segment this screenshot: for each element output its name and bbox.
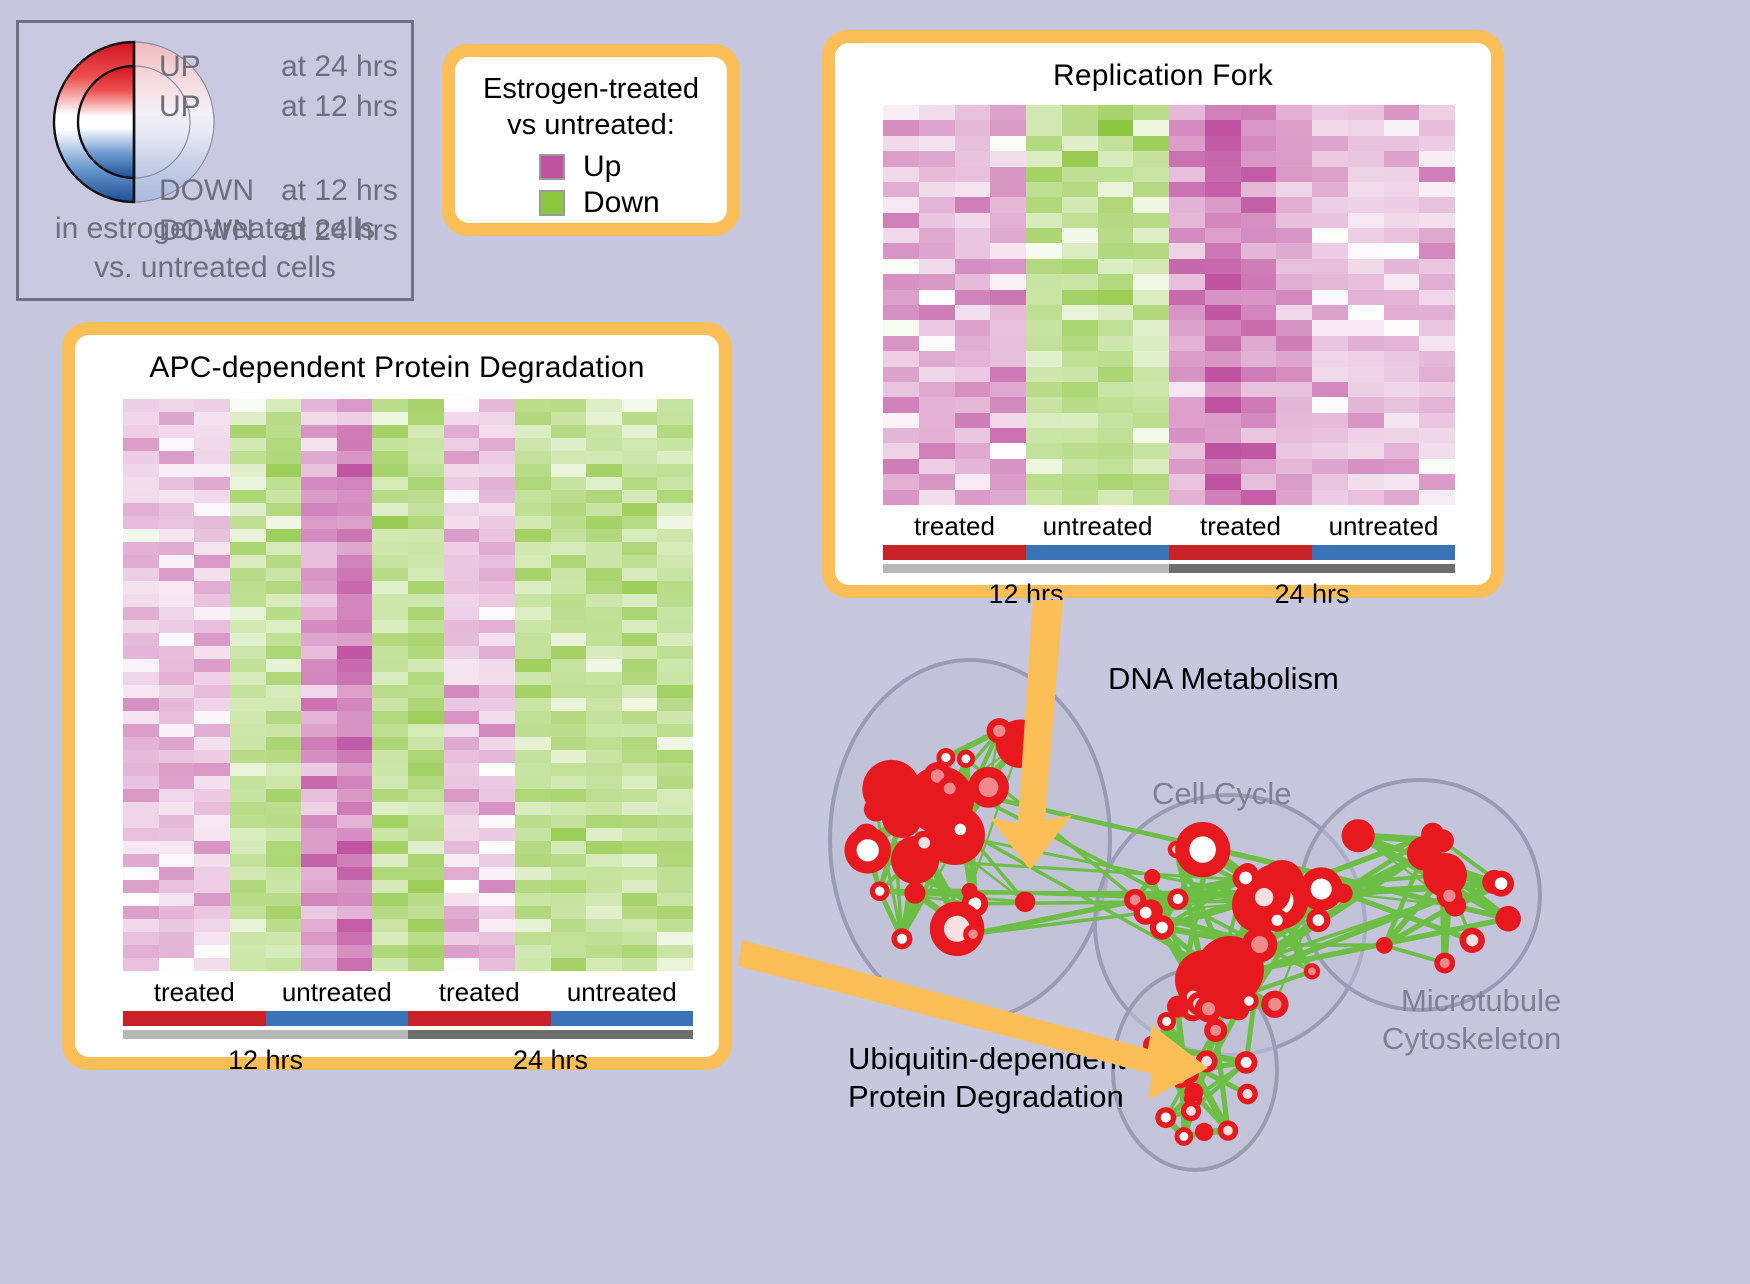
heatmap-cell xyxy=(123,646,159,659)
heatmap-cell xyxy=(586,945,622,958)
heatmap-cell xyxy=(955,182,991,197)
heatmap-cell xyxy=(657,490,693,503)
heatmap-cell xyxy=(586,802,622,815)
heatmap-cell xyxy=(586,672,622,685)
heatmap-cell xyxy=(266,399,302,412)
heatmap-cell xyxy=(657,659,693,672)
heatmap-cell xyxy=(622,438,658,451)
treatment-bar-untreated xyxy=(551,1011,694,1026)
heatmap-cell xyxy=(266,789,302,802)
heatmap-cell xyxy=(266,425,302,438)
heatmap-cell xyxy=(372,763,408,776)
heatmap-cell xyxy=(1241,367,1277,382)
heatmap-cell xyxy=(1133,382,1169,397)
heatmap-cell xyxy=(372,412,408,425)
heatmap-cell xyxy=(657,568,693,581)
heatmap-cell xyxy=(1026,151,1062,166)
heatmap-cell xyxy=(1312,305,1348,320)
heatmap-cell xyxy=(586,724,622,737)
heatmap-cell xyxy=(622,685,658,698)
heatmap-cell xyxy=(408,581,444,594)
heatmap-cell xyxy=(1276,197,1312,212)
heatmap-cell xyxy=(444,607,480,620)
network-node[interactable] xyxy=(1237,1084,1258,1105)
heatmap-cell xyxy=(622,893,658,906)
heatmap-cell xyxy=(586,620,622,633)
legend-item-up: Up xyxy=(539,149,727,185)
heatmap-cell xyxy=(159,698,195,711)
heatmap-cell xyxy=(1062,367,1098,382)
heatmap-cell xyxy=(1384,274,1420,289)
heatmap-cell xyxy=(337,854,373,867)
legend-caption-line1: in estrogen-treated cells xyxy=(19,209,411,248)
heatmap-cell xyxy=(1241,167,1277,182)
heatmap-cell xyxy=(622,750,658,763)
heatmap-cell xyxy=(1133,259,1169,274)
heatmap-cell xyxy=(1276,182,1312,197)
heatmap-cell xyxy=(1348,413,1384,428)
heatmap-cell xyxy=(408,828,444,841)
heatmap-cell xyxy=(1348,290,1384,305)
network-node[interactable] xyxy=(1430,829,1453,852)
heatmap-cell xyxy=(194,685,230,698)
heatmap-cell xyxy=(230,685,266,698)
network-node[interactable] xyxy=(987,718,1013,744)
heatmap-cell xyxy=(159,711,195,724)
network-node[interactable] xyxy=(1015,892,1035,912)
network-node[interactable] xyxy=(968,767,1009,808)
heatmap-cell xyxy=(657,477,693,490)
heatmap-cell xyxy=(230,763,266,776)
treatment-bar-treated xyxy=(123,1011,266,1026)
heatmap-cell xyxy=(266,802,302,815)
time-bar-12hrs xyxy=(123,1030,408,1039)
network-node[interactable] xyxy=(1195,995,1222,1022)
heatmap-cell xyxy=(622,828,658,841)
heatmap-cell xyxy=(1419,351,1455,366)
heatmap-cell xyxy=(1312,443,1348,458)
network-node[interactable] xyxy=(1182,961,1202,981)
heatmap-cell xyxy=(337,867,373,880)
heatmap-cell xyxy=(444,841,480,854)
heatmap-cell xyxy=(194,516,230,529)
heatmap-cell xyxy=(955,443,991,458)
heatmap-cell xyxy=(657,893,693,906)
heatmap-cell xyxy=(657,932,693,945)
heatmap-cell xyxy=(1312,213,1348,228)
network-node[interactable] xyxy=(1437,883,1463,909)
heatmap-cell xyxy=(301,750,337,763)
network-node[interactable] xyxy=(1195,1123,1213,1141)
heatmap-cell xyxy=(551,750,587,763)
heatmap-cell xyxy=(194,555,230,568)
heatmap-cell xyxy=(551,841,587,854)
heatmap-cell xyxy=(266,750,302,763)
heatmap-cell xyxy=(1419,197,1455,212)
heatmap-cell xyxy=(586,685,622,698)
heatmap-cell xyxy=(1384,459,1420,474)
heatmap-cell xyxy=(1026,228,1062,243)
network-node[interactable] xyxy=(963,924,983,944)
heatmap-cell xyxy=(1276,428,1312,443)
heatmap-cell xyxy=(1133,367,1169,382)
network-node[interactable] xyxy=(1376,937,1393,954)
heatmap-cell xyxy=(586,711,622,724)
heatmap-cell xyxy=(408,685,444,698)
heatmap-cell xyxy=(586,477,622,490)
heatmap-cell xyxy=(515,633,551,646)
heatmap-cell xyxy=(123,737,159,750)
network-node[interactable] xyxy=(1175,822,1230,877)
heatmap-cell xyxy=(194,646,230,659)
heatmap-cell xyxy=(444,620,480,633)
heatmap-cell xyxy=(479,633,515,646)
heatmap-cell xyxy=(515,399,551,412)
time-color-bars xyxy=(123,1030,693,1039)
legend-direction: UP xyxy=(159,47,281,87)
heatmap-cell xyxy=(1276,474,1312,489)
heatmap-cell xyxy=(1205,413,1241,428)
heatmap-cell xyxy=(372,893,408,906)
network-node[interactable] xyxy=(1184,1083,1203,1102)
heatmap-cell xyxy=(1419,397,1455,412)
heatmap-cell xyxy=(444,425,480,438)
heatmap-cell xyxy=(1062,336,1098,351)
heatmap-cell xyxy=(123,958,159,971)
heatmap-cell xyxy=(1384,197,1420,212)
heatmap-cell xyxy=(159,516,195,529)
network-node[interactable] xyxy=(1434,953,1455,974)
heatmap-cell xyxy=(515,815,551,828)
network-node[interactable] xyxy=(1333,884,1352,903)
network-node[interactable] xyxy=(1242,927,1277,962)
heatmap-cell xyxy=(955,151,991,166)
heatmap-cell xyxy=(1062,413,1098,428)
heatmap-cell xyxy=(159,659,195,672)
network-node[interactable] xyxy=(1495,906,1521,932)
heatmap-cell xyxy=(622,867,658,880)
heatmap-cell xyxy=(444,451,480,464)
heatmap-cell xyxy=(1241,182,1277,197)
heatmap-cell xyxy=(301,802,337,815)
heatmap-cell xyxy=(1419,136,1455,151)
heatmap-cell xyxy=(1098,136,1134,151)
heatmap-cell xyxy=(372,451,408,464)
heatmap-cell xyxy=(883,213,919,228)
heatmap-cell xyxy=(1169,274,1205,289)
heatmap-cell xyxy=(515,503,551,516)
heatmap-cell xyxy=(515,555,551,568)
heatmap-cell xyxy=(586,789,622,802)
heatmap-cell xyxy=(1169,428,1205,443)
heatmap-cell xyxy=(266,880,302,893)
network-node[interactable] xyxy=(1460,928,1485,953)
heatmap-cell xyxy=(444,932,480,945)
heatmap-grid xyxy=(123,399,693,971)
heatmap-cell xyxy=(159,503,195,516)
heatmap-cell xyxy=(1026,213,1062,228)
network-node[interactable] xyxy=(1217,952,1233,968)
heatmap-cell xyxy=(123,711,159,724)
heatmap-cell xyxy=(990,167,1026,182)
network-node[interactable] xyxy=(870,881,890,901)
heatmap-cell xyxy=(622,503,658,516)
heatmap-cell xyxy=(1241,243,1277,258)
heatmap-cell xyxy=(479,802,515,815)
heatmap-cell xyxy=(372,841,408,854)
network-node[interactable] xyxy=(1306,908,1330,932)
heatmap-legend-items: Up Down xyxy=(455,149,727,221)
network-node[interactable] xyxy=(1204,1019,1227,1042)
heatmap-cell xyxy=(123,685,159,698)
network-node[interactable] xyxy=(1235,1051,1258,1074)
heatmap-cell xyxy=(1205,290,1241,305)
heatmap-cell xyxy=(479,412,515,425)
network-node[interactable] xyxy=(1167,996,1189,1018)
heatmap-cell xyxy=(919,105,955,120)
heatmap-cell xyxy=(586,490,622,503)
heatmap-cell xyxy=(194,880,230,893)
heatmap-cell xyxy=(123,828,159,841)
heatmap-cell xyxy=(1419,167,1455,182)
heatmap-cell xyxy=(586,633,622,646)
network-node[interactable] xyxy=(937,776,961,800)
network-node[interactable] xyxy=(1171,1070,1189,1088)
heatmap-cell xyxy=(123,893,159,906)
heatmap-cell xyxy=(159,607,195,620)
heatmap-cell xyxy=(1133,320,1169,335)
heatmap-cell xyxy=(123,451,159,464)
heatmap-cell xyxy=(515,516,551,529)
heatmap-cell xyxy=(622,815,658,828)
heatmap-cell xyxy=(1348,367,1384,382)
network-node[interactable] xyxy=(936,748,955,767)
heatmap-cell xyxy=(1026,274,1062,289)
heatmap-cell xyxy=(337,932,373,945)
network-node[interactable] xyxy=(862,760,920,818)
network-node[interactable] xyxy=(1155,1107,1176,1128)
heatmap-cell xyxy=(230,633,266,646)
heatmap-cell xyxy=(515,607,551,620)
heatmap-cell xyxy=(444,555,480,568)
heatmap-cell xyxy=(479,490,515,503)
network-node[interactable] xyxy=(891,928,912,949)
network-node[interactable] xyxy=(912,831,936,855)
legend-title-line1: Estrogen-treated xyxy=(455,71,727,107)
heatmap-cell xyxy=(1348,228,1384,243)
heatmap-cell xyxy=(622,516,658,529)
heatmap-cell xyxy=(159,867,195,880)
heatmap-cell xyxy=(1276,367,1312,382)
network-node[interactable] xyxy=(962,883,978,899)
heatmap-cell xyxy=(1241,397,1277,412)
heatmap-cell xyxy=(159,802,195,815)
heatmap-cell xyxy=(1133,151,1169,166)
network-node[interactable] xyxy=(957,750,975,768)
heatmap-cell xyxy=(194,841,230,854)
network-node[interactable] xyxy=(1175,1127,1194,1146)
heatmap-cell xyxy=(586,594,622,607)
heatmap-cell xyxy=(883,151,919,166)
heatmap-cell xyxy=(1276,351,1312,366)
heatmap-cell xyxy=(159,464,195,477)
heatmap-cell xyxy=(194,854,230,867)
heatmap-cell xyxy=(1312,259,1348,274)
heatmap-cell xyxy=(1419,443,1455,458)
heatmap-cell xyxy=(990,336,1026,351)
network-node[interactable] xyxy=(1233,865,1259,891)
heatmap-cell xyxy=(883,428,919,443)
heatmap-cell xyxy=(301,815,337,828)
heatmap-cell xyxy=(919,213,955,228)
heatmap-cell xyxy=(622,399,658,412)
heatmap-cell xyxy=(586,763,622,776)
heatmap-cell xyxy=(551,490,587,503)
heatmap-cell xyxy=(1312,290,1348,305)
heatmap-cell xyxy=(301,841,337,854)
network-node[interactable] xyxy=(904,882,925,903)
heatmap-cell xyxy=(1169,290,1205,305)
heatmap-cell xyxy=(515,646,551,659)
heatmap-cell xyxy=(586,568,622,581)
heatmap-cell xyxy=(955,290,991,305)
network-node[interactable] xyxy=(1488,871,1514,897)
heatmap-cell xyxy=(123,555,159,568)
heatmap-cell xyxy=(551,867,587,880)
heatmap-cell xyxy=(194,789,230,802)
heatmap-cell xyxy=(230,932,266,945)
heatmap-cell xyxy=(919,443,955,458)
network-node[interactable] xyxy=(1195,1050,1217,1072)
heatmap-cell xyxy=(479,698,515,711)
heatmap-cell xyxy=(883,490,919,505)
heatmap-cell xyxy=(1348,351,1384,366)
heatmap-cell xyxy=(230,724,266,737)
time-labels: 12 hrs 24 hrs xyxy=(123,1042,693,1078)
heatmap-cell xyxy=(883,228,919,243)
network-node[interactable] xyxy=(1143,1036,1161,1054)
heatmap-cell xyxy=(1205,243,1241,258)
heatmap-cell xyxy=(1062,490,1098,505)
heatmap-cell xyxy=(123,516,159,529)
heatmap-cell xyxy=(622,607,658,620)
heatmap-cell xyxy=(1133,490,1169,505)
time-labels: 12 hrs 24 hrs xyxy=(883,576,1455,612)
heatmap-cell xyxy=(230,542,266,555)
heatmap-cell xyxy=(301,867,337,880)
heatmap-cell xyxy=(1419,213,1455,228)
heatmap-cell xyxy=(1312,367,1348,382)
heatmap-cell xyxy=(301,854,337,867)
heatmap-cell xyxy=(1133,290,1169,305)
heatmap-cell xyxy=(301,516,337,529)
heatmap-cell xyxy=(1098,290,1134,305)
heatmap-cell xyxy=(337,698,373,711)
heatmap-cell xyxy=(883,336,919,351)
heatmap-cell xyxy=(955,305,991,320)
heatmap-cell xyxy=(919,474,955,489)
heatmap-cell xyxy=(230,412,266,425)
network-node[interactable] xyxy=(1167,888,1188,909)
heatmap-cell xyxy=(1276,274,1312,289)
heatmap-cell xyxy=(230,594,266,607)
heatmap-cell xyxy=(551,919,587,932)
heatmap-cell xyxy=(230,841,266,854)
heatmap-cell xyxy=(657,464,693,477)
heatmap-cell xyxy=(990,274,1026,289)
heatmap-cell xyxy=(444,919,480,932)
heatmap-cell xyxy=(990,305,1026,320)
heatmap-cell xyxy=(372,529,408,542)
network-node[interactable] xyxy=(1218,1120,1238,1140)
heatmap-cell xyxy=(408,711,444,724)
apc-heatmap xyxy=(123,399,693,971)
heatmap-cell xyxy=(194,906,230,919)
heatmap-cell xyxy=(551,555,587,568)
network-node[interactable] xyxy=(1342,819,1375,852)
heatmap-cell xyxy=(622,425,658,438)
heatmap-cell xyxy=(337,711,373,724)
heatmap-cell xyxy=(586,542,622,555)
legend-caption-line2: vs. untreated cells xyxy=(19,248,411,287)
heatmap-cell xyxy=(1384,305,1420,320)
heatmap-cell xyxy=(1062,290,1098,305)
heatmap-cell xyxy=(551,620,587,633)
heatmap-cell xyxy=(622,555,658,568)
heatmap-cell xyxy=(1276,459,1312,474)
heatmap-cell xyxy=(159,555,195,568)
heatmap-cell xyxy=(444,802,480,815)
heatmap-cell xyxy=(194,802,230,815)
network-node[interactable] xyxy=(1144,869,1160,885)
heatmap-cell xyxy=(919,367,955,382)
network-node[interactable] xyxy=(1150,915,1174,939)
network-node[interactable] xyxy=(1261,991,1288,1018)
heatmap-color-legend-panel: Estrogen-treated vs untreated: Up Down xyxy=(442,44,740,236)
heatmap-cell xyxy=(657,841,693,854)
heatmap-cell xyxy=(301,737,337,750)
heatmap-cell xyxy=(883,290,919,305)
heatmap-cell xyxy=(1384,351,1420,366)
heatmap-cell xyxy=(408,659,444,672)
heatmap-cell xyxy=(515,568,551,581)
heatmap-cell xyxy=(337,802,373,815)
heatmap-cell xyxy=(1276,213,1312,228)
heatmap-cell xyxy=(194,672,230,685)
network-node[interactable] xyxy=(844,827,891,874)
network-node[interactable] xyxy=(948,818,972,842)
network-node[interactable] xyxy=(1181,1101,1201,1121)
heatmap-cell xyxy=(1133,105,1169,120)
heatmap-cell xyxy=(194,776,230,789)
heatmap-cell xyxy=(194,815,230,828)
heatmap-cell xyxy=(337,503,373,516)
heatmap-cell xyxy=(919,243,955,258)
heatmap-cell xyxy=(194,490,230,503)
heatmap-cell xyxy=(479,594,515,607)
heatmap-cell xyxy=(515,464,551,477)
network-node[interactable] xyxy=(1239,991,1259,1011)
heatmap-cell xyxy=(194,750,230,763)
heatmap-cell xyxy=(551,828,587,841)
heatmap-cell xyxy=(337,607,373,620)
heatmap-cell xyxy=(990,243,1026,258)
network-node[interactable] xyxy=(1304,963,1320,979)
legend-time: at 12 hrs xyxy=(281,171,398,211)
heatmap-cell xyxy=(1276,290,1312,305)
heatmap-cell xyxy=(586,451,622,464)
heatmap-cell xyxy=(444,503,480,516)
